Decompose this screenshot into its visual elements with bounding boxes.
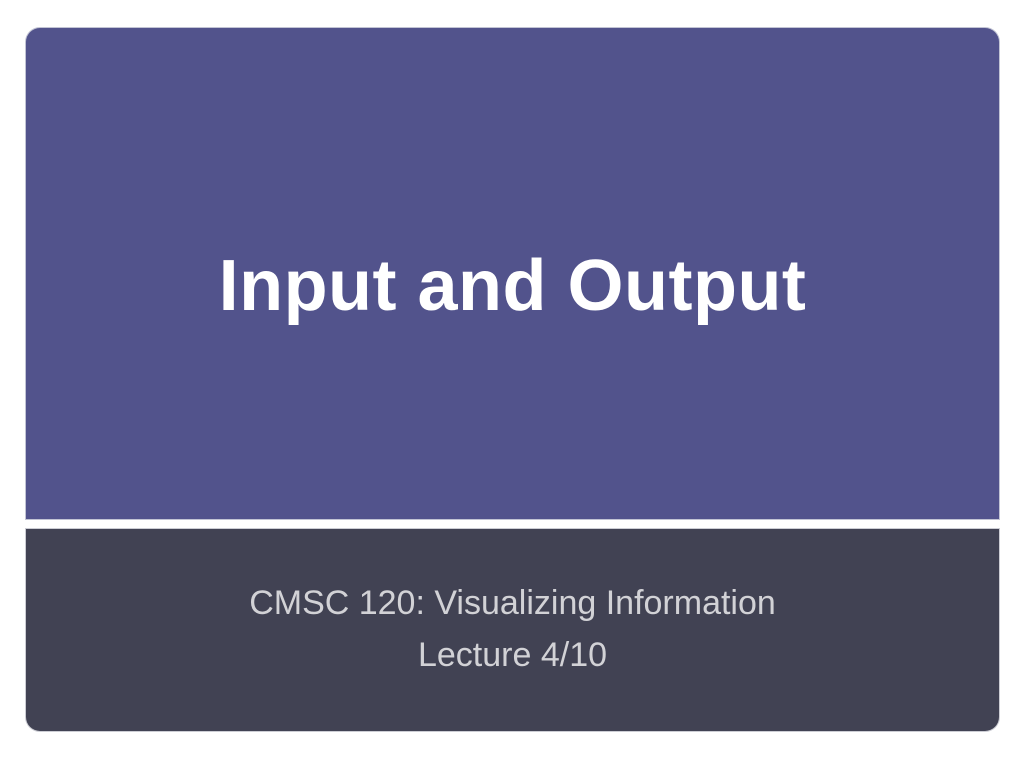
slide-subtitle: CMSC 120: Visualizing Information Lectur… (26, 577, 999, 681)
presentation-slide: Input and Output CMSC 120: Visualizing I… (0, 0, 1024, 768)
slide-title-panel: Input and Output (26, 28, 999, 519)
slide-subtitle-panel: CMSC 120: Visualizing Information Lectur… (26, 529, 999, 731)
page-title: Input and Output (26, 250, 999, 322)
subtitle-line-lecture: Lecture 4/10 (26, 629, 999, 681)
subtitle-line-course: CMSC 120: Visualizing Information (26, 577, 999, 629)
